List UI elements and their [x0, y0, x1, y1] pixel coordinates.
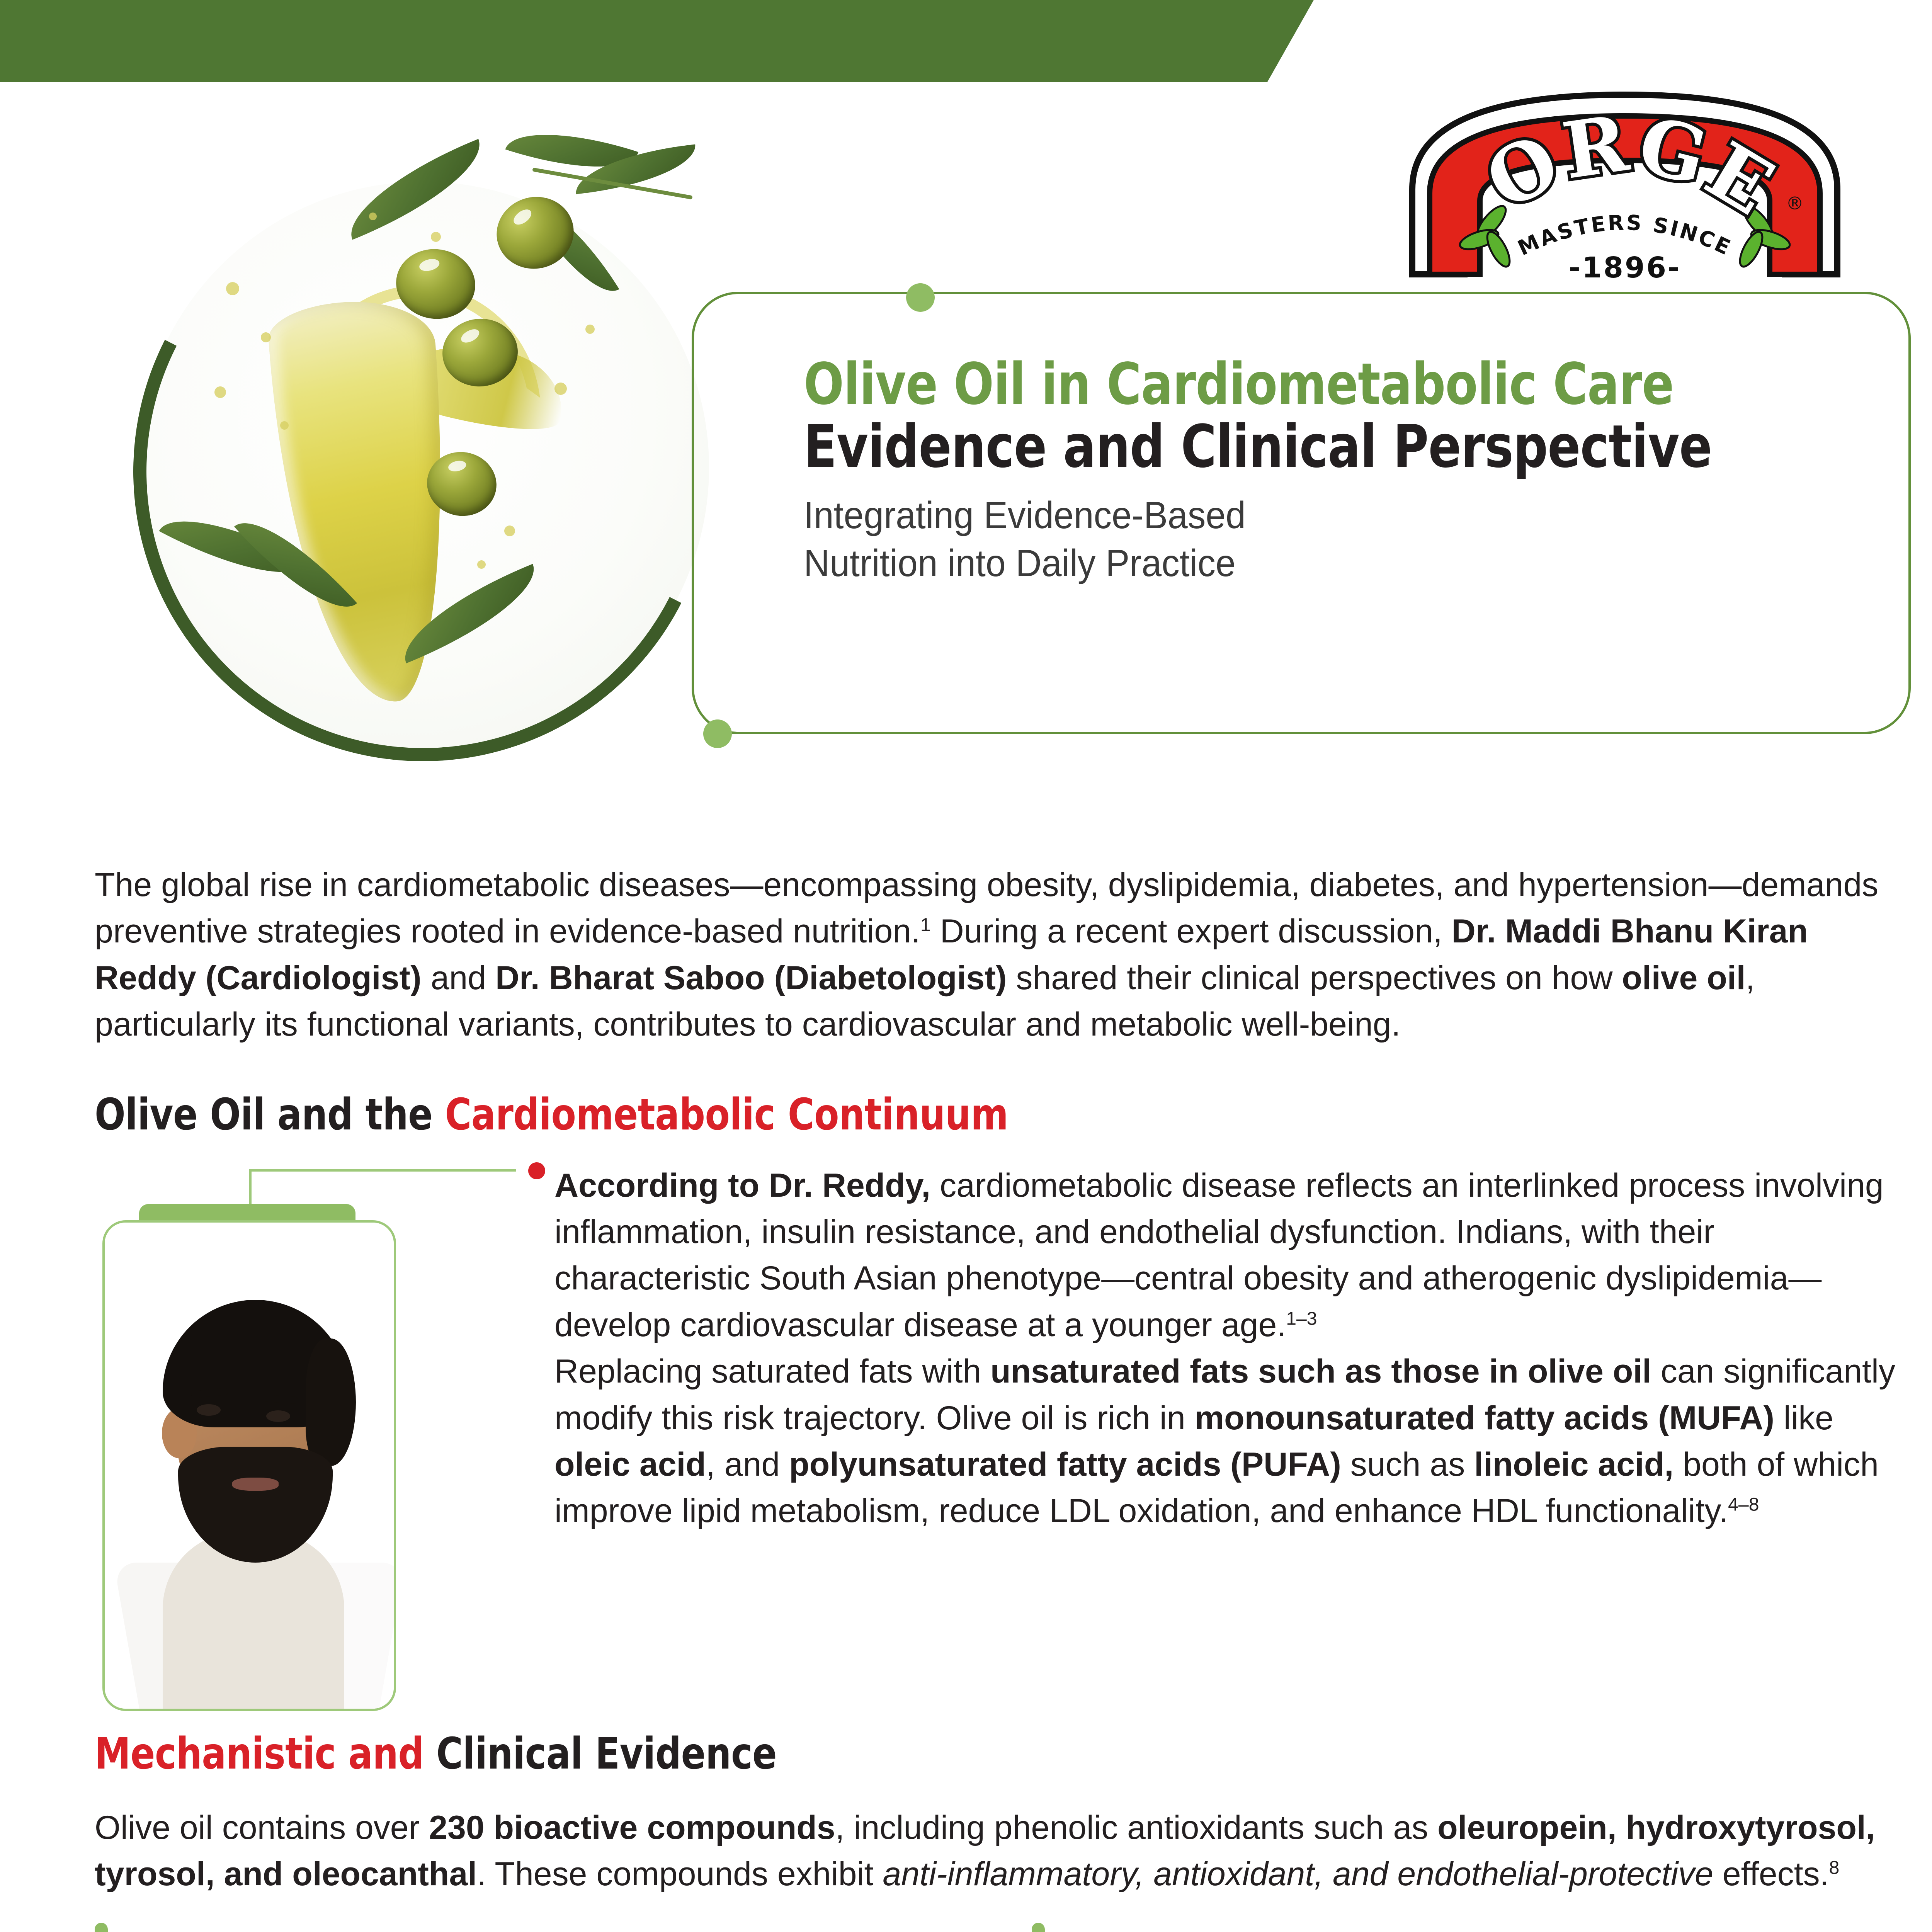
- quote-accent-bar: [95, 1923, 108, 1932]
- top-green-banner: [0, 0, 1314, 82]
- cordioprev-quote-box: The CORDIOPREV Study confirmed that an E…: [1032, 1923, 1903, 1932]
- document-body: The global rise in cardiometabolic disea…: [95, 862, 1903, 1932]
- intro-doctor-2: Dr. Bharat Saboo (Diabetologist): [495, 959, 1007, 997]
- olive-fruit-icon: [489, 189, 582, 277]
- oil-droplet-icon: [477, 560, 486, 569]
- doctor-photo-frame: [102, 1220, 396, 1711]
- page-title-line2: Evidence and Clinical Perspective: [804, 415, 1799, 478]
- p2-bold-mufa: monounsaturated fatty acids (MUFA): [1195, 1400, 1774, 1437]
- mech-bold-230: 230 bioactive compounds: [429, 1809, 835, 1846]
- p2-bold-oleic: oleic acid: [554, 1446, 706, 1483]
- mechanistic-paragraph: Olive oil contains over 230 bioactive co…: [95, 1804, 1903, 1898]
- oil-droplet-icon: [369, 213, 377, 220]
- doctor-paragraph-2: Replacing saturated fats with unsaturate…: [554, 1348, 1903, 1534]
- p2-seg-a: Replacing saturated fats with: [554, 1353, 990, 1390]
- page-title-line1: Olive Oil in Cardiometabolic Care: [804, 355, 1799, 413]
- doctor-quote-row: According to Dr. Reddy, cardiometabolic …: [95, 1162, 1903, 1726]
- oil-droplet-icon: [280, 421, 289, 430]
- intro-seg4: shared their clinical perspectives on ho…: [1007, 959, 1622, 997]
- section-heading-1-dark: Olive Oil and the: [95, 1090, 445, 1140]
- logo-year: -1896-: [1568, 251, 1681, 282]
- section-heading-2-dark: Clinical Evidence: [436, 1729, 777, 1779]
- p2-bold-linoleic: linoleic acid,: [1474, 1446, 1673, 1483]
- hero-artwork: [99, 116, 771, 773]
- study-quote-columns: The PREDIMED Trial demonstrated that a M…: [95, 1923, 1903, 1932]
- oil-droplet-icon: [261, 332, 271, 342]
- page-subtitle-line1: Integrating Evidence-Based: [804, 494, 1246, 536]
- p2-seg-d: like: [1774, 1400, 1833, 1437]
- oil-droplet-icon: [226, 282, 239, 295]
- predimed-seg1: demonstrated that a: [446, 1927, 744, 1932]
- section-heading-2-red: Mechanistic and: [95, 1729, 436, 1779]
- p2-ref: 4–8: [1728, 1494, 1759, 1515]
- mech-seg-c: , including phenolic antioxidants such a…: [835, 1809, 1438, 1846]
- predimed-title: The PREDIMED Trial: [133, 1927, 446, 1932]
- page-subtitle-line2: Nutrition into Daily Practice: [804, 542, 1236, 584]
- section-heading-1: Olive Oil and the Cardiometabolic Contin…: [95, 1090, 1776, 1140]
- doctor-quote-text: According to Dr. Reddy, cardiometabolic …: [554, 1162, 1903, 1534]
- oil-droplet-icon: [554, 383, 567, 395]
- bullet-dot-icon: [528, 1162, 545, 1179]
- registered-mark-icon: ®: [1786, 193, 1804, 214]
- oil-droplet-icon: [431, 232, 441, 242]
- hero-olive-oil-image: [99, 116, 771, 773]
- mech-seg-e: effects.: [1713, 1855, 1829, 1893]
- p2-bold-pufa: polyunsaturated fatty acids (PUFA): [789, 1446, 1341, 1483]
- doctor-avatar: [105, 1223, 394, 1709]
- quote-accent-bar: [1032, 1923, 1045, 1932]
- cordioprev-text: The CORDIOPREV Study confirmed that an E…: [1070, 1923, 1903, 1932]
- doctor-attribution: According to Dr. Reddy,: [554, 1167, 930, 1204]
- oil-droplet-icon: [585, 325, 595, 334]
- oil-droplet-icon: [504, 526, 515, 536]
- title-block: Olive Oil in Cardiometabolic Care Eviden…: [804, 355, 1886, 587]
- intro-seg3: and: [422, 959, 495, 997]
- page-subtitle: Integrating Evidence-Based Nutrition int…: [804, 492, 1832, 587]
- section-heading-2: Mechanistic and Clinical Evidence: [95, 1729, 1776, 1779]
- mech-italic-effects: anti-inflammatory, antioxidant, and endo…: [883, 1855, 1713, 1893]
- title-dot-top-icon: [906, 283, 935, 312]
- intro-paragraph: The global rise in cardiometabolic disea…: [95, 862, 1903, 1048]
- oil-droplet-icon: [214, 386, 226, 398]
- mech-seg-d: . These compounds exhibit: [477, 1855, 883, 1893]
- p2-seg-f: such as: [1341, 1446, 1474, 1483]
- p2-seg-e: , and: [706, 1446, 789, 1483]
- intro-ref1: 1: [920, 915, 931, 935]
- mech-seg-a: Olive oil contains over: [95, 1809, 429, 1846]
- p2-bold-unsaturated: unsaturated fats such as those in olive …: [990, 1353, 1651, 1390]
- predimed-quote-box: The PREDIMED Trial demonstrated that a M…: [95, 1923, 966, 1932]
- doctor-paragraph-1: According to Dr. Reddy, cardiometabolic …: [554, 1162, 1903, 1349]
- intro-seg2: During a recent expert discussion,: [931, 913, 1452, 950]
- title-dot-bottom-icon: [703, 719, 732, 748]
- doctor-para1-ref: 1–3: [1286, 1308, 1317, 1329]
- intro-olive-oil: olive oil: [1622, 959, 1745, 997]
- olive-leaf-icon: [335, 139, 496, 240]
- predimed-text: The PREDIMED Trial demonstrated that a M…: [133, 1923, 966, 1932]
- borges-logo: BORGES ® MASTERS SINCE -1896-: [1376, 73, 1874, 282]
- mech-ref: 8: [1829, 1857, 1839, 1878]
- cordioprev-title: The CORDIOPREV Study: [1070, 1927, 1454, 1932]
- section-heading-1-red: Cardiometabolic Continuum: [445, 1090, 1008, 1140]
